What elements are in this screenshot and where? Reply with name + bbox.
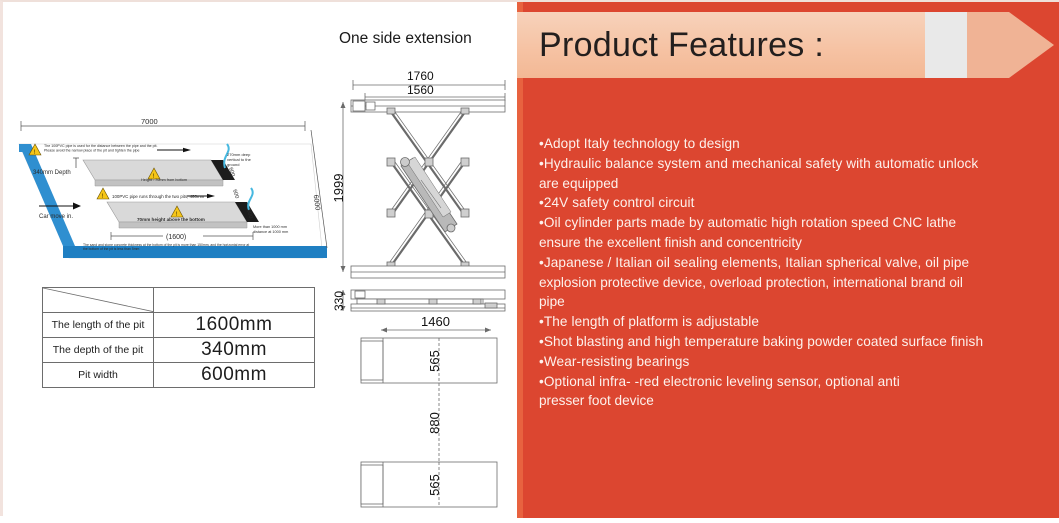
product-features-panel: Product Features : •Adopt Italy technolo…: [517, 2, 1059, 518]
feature-line: •Optional infra- -red electronic levelin…: [539, 372, 1053, 392]
row-value-pit-width: 600mm: [154, 363, 315, 388]
table-row: The length of the pit 1600mm: [43, 313, 315, 338]
pit-note-pvc-top: The 100PVC pipe is used for the distance…: [44, 144, 157, 148]
svg-text:ground: ground: [227, 162, 239, 167]
svg-text:distance at 1000 mm: distance at 1000 mm: [253, 230, 288, 234]
table-header-row: [43, 288, 315, 313]
row-value-pit-length: 1600mm: [154, 313, 315, 338]
pit-label-depth: 340mm Depth: [33, 170, 71, 176]
feature-line: •Oil cylinder parts made by automatic hi…: [539, 213, 1053, 233]
pit-note-pvc-mid: 100PVC pipe runs through the two pits, 4…: [112, 194, 205, 199]
feature-line: •Wear-resisting bearings: [539, 352, 1053, 372]
feature-line-cont: are equipped: [539, 174, 1053, 194]
cad-drawing-column: One side extension 1760 1560: [333, 2, 517, 518]
feature-line: •Hydraulic balance system and mechanical…: [539, 154, 1053, 174]
pit-note-height-bottom: Height : 70mm from bottom: [141, 178, 187, 182]
page-title: Product Features :: [539, 26, 824, 65]
feature-line: •The length of platform is adjustable: [539, 312, 1053, 332]
row-label-pit-length: The length of the pit: [43, 313, 154, 338]
pit-note-more-than: More than 1000 mm: [253, 225, 287, 229]
feature-line: •Shot blasting and high temperature baki…: [539, 332, 1053, 352]
cad-dim-1560: 1560: [407, 83, 434, 97]
row-value-pit-depth: 340mm: [154, 338, 315, 363]
cad-dim-565-bottom: 565: [427, 474, 442, 496]
pit-installation-diagram: 7000 6000 600 600 600: [11, 106, 331, 268]
row-label-pit-depth: The depth of the pit: [43, 338, 154, 363]
feature-line: •Adopt Italy technology to design: [539, 134, 1053, 154]
pit-note-70mm: 70mm height above the bottom: [137, 217, 205, 222]
feature-line: •24V safety control circuit: [539, 193, 1053, 213]
cad-dim-1999: 1999: [333, 174, 346, 203]
header-chevron-banner: Product Features :: [517, 12, 1059, 78]
cad-dim-565-top: 565: [427, 350, 442, 372]
row-label-pit-width: Pit width: [43, 363, 154, 388]
features-list: •Adopt Italy technology to design •Hydra…: [539, 134, 1053, 411]
product-features-slide: 7000 6000 600 600 600: [0, 0, 1059, 516]
feature-line-cont: presser foot device: [539, 391, 1053, 411]
table-row: The depth of the pit 340mm: [43, 338, 315, 363]
table-header-value-cell: [154, 288, 315, 313]
scissor-lift-cad-drawing: 1760 1560: [333, 58, 517, 523]
feature-line-cont: explosion protective device, overload pr…: [539, 273, 1053, 293]
feature-line-cont: pipe: [539, 292, 1053, 312]
pit-dim-bottom: (1600): [166, 234, 186, 241]
panel-left-edge: [517, 2, 523, 518]
cad-title: One side extension: [339, 30, 517, 48]
cad-dim-1760: 1760: [407, 69, 434, 83]
svg-text:the bottom of the pit is less: the bottom of the pit is less than 5mm: [83, 247, 140, 251]
svg-text:Please avoid the narrow place: Please avoid the narrow place of the pit…: [44, 149, 140, 153]
cad-dim-880: 880: [427, 412, 442, 434]
cad-dim-330: 330: [333, 291, 346, 311]
feature-line-cont: ensure the excellent finish and concentr…: [539, 233, 1053, 253]
table-corner-cell: [43, 288, 154, 313]
feature-line: •Japanese / Italian oil sealing elements…: [539, 253, 1053, 273]
table-row: Pit width 600mm: [43, 363, 315, 388]
pit-dim-top: 7000: [141, 117, 158, 126]
pit-spec-table: The length of the pit 1600mm The depth o…: [42, 287, 315, 388]
pit-label-car-move: Car move in.: [39, 214, 73, 220]
cad-dim-1460: 1460: [421, 314, 450, 329]
